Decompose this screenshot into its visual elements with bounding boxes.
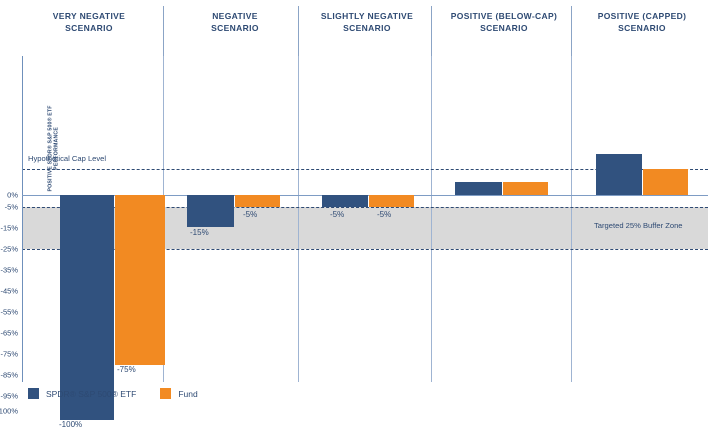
bar-label-spdr-very-negative: -100% (59, 420, 82, 429)
header-line2: SCENARIO (437, 22, 571, 34)
y-tick-0: 0% (0, 191, 18, 200)
bar-fund-negative (235, 195, 280, 207)
cap-level-label: Hypothetical Cap Level (28, 154, 106, 163)
header-line2: SCENARIO (14, 22, 164, 34)
y-axis-title: POSITIVE SPDR® S&P 500® ETF PERFORMANCE (48, 103, 61, 193)
header-line1: NEGATIVE (172, 10, 298, 22)
y-tick-5: -45% (0, 287, 18, 296)
y-tick-8: -75% (0, 350, 18, 359)
legend-swatch-spdr-icon (28, 388, 39, 399)
header-separator-4 (571, 6, 572, 56)
y-axis-line (22, 56, 23, 382)
legend-item-spdr: SPDR® S&P 500® ETF (28, 388, 136, 399)
y-tick-2: -15% (0, 224, 18, 233)
bar-label-spdr-negative: -15% (190, 228, 209, 237)
legend-label-spdr: SPDR® S&P 500® ETF (46, 389, 136, 399)
header-line1: VERY NEGATIVE (14, 10, 164, 22)
y-tick-11: -100% (0, 407, 18, 416)
y-tick-9: -85% (0, 371, 18, 380)
bar-fund-slightly-negative (369, 195, 414, 207)
bar-fund-positive-capped (643, 169, 688, 195)
header-line2: SCENARIO (576, 22, 708, 34)
scenario-header-positive-capped: POSITIVE (CAPPED) SCENARIO (576, 10, 708, 34)
y-tick-7: -65% (0, 329, 18, 338)
column-separator-4 (571, 56, 572, 382)
header-separator-1 (163, 6, 164, 56)
scenario-header-very-negative: VERY NEGATIVE SCENARIO (14, 10, 164, 34)
y-tick-4: -35% (0, 266, 18, 275)
y-tick-3: -25% (0, 245, 18, 254)
scenario-header-row: VERY NEGATIVE SCENARIO NEGATIVE SCENARIO… (0, 0, 710, 56)
column-separator-3 (431, 56, 432, 382)
legend-swatch-fund-icon (160, 388, 171, 399)
bar-label-fund-very-negative: -75% (117, 365, 136, 374)
header-line2: SCENARIO (304, 22, 430, 34)
y-tick-1: -5% (0, 203, 18, 212)
chart-root: VERY NEGATIVE SCENARIO NEGATIVE SCENARIO… (0, 0, 710, 424)
bar-label-spdr-slightly-negative: -5% (330, 210, 344, 219)
header-line1: SLIGHTLY NEGATIVE (304, 10, 430, 22)
scenario-header-negative: NEGATIVE SCENARIO (172, 10, 298, 34)
scenario-header-slightly-negative: SLIGHTLY NEGATIVE SCENARIO (304, 10, 430, 34)
bar-fund-very-negative (115, 195, 165, 365)
bar-spdr-negative (187, 195, 234, 227)
legend-label-fund: Fund (178, 389, 197, 399)
bar-fund-positive-below-cap (503, 182, 548, 195)
bar-spdr-positive-below-cap (455, 182, 502, 195)
y-tick-10: -95% (0, 392, 18, 401)
bar-label-fund-negative: -5% (243, 210, 257, 219)
column-separator-2 (298, 56, 299, 382)
legend-item-fund: Fund (160, 388, 197, 399)
header-line1: POSITIVE (CAPPED) (576, 10, 708, 22)
bar-spdr-positive-capped (596, 154, 642, 195)
header-line1: POSITIVE (BELOW-CAP) (437, 10, 571, 22)
bar-label-fund-slightly-negative: -5% (377, 210, 391, 219)
chart-legend: SPDR® S&P 500® ETF Fund (28, 388, 198, 399)
header-line2: SCENARIO (172, 22, 298, 34)
buffer-zone-label: Targeted 25% Buffer Zone (594, 221, 683, 230)
y-tick-6: -55% (0, 308, 18, 317)
scenario-header-positive-below-cap: POSITIVE (BELOW-CAP) SCENARIO (437, 10, 571, 34)
plot-area: POSITIVE SPDR® S&P 500® ETF PERFORMANCE … (22, 56, 708, 382)
header-separator-2 (298, 6, 299, 56)
header-separator-3 (431, 6, 432, 56)
bar-spdr-slightly-negative (322, 195, 368, 207)
bar-spdr-very-negative (60, 195, 114, 420)
